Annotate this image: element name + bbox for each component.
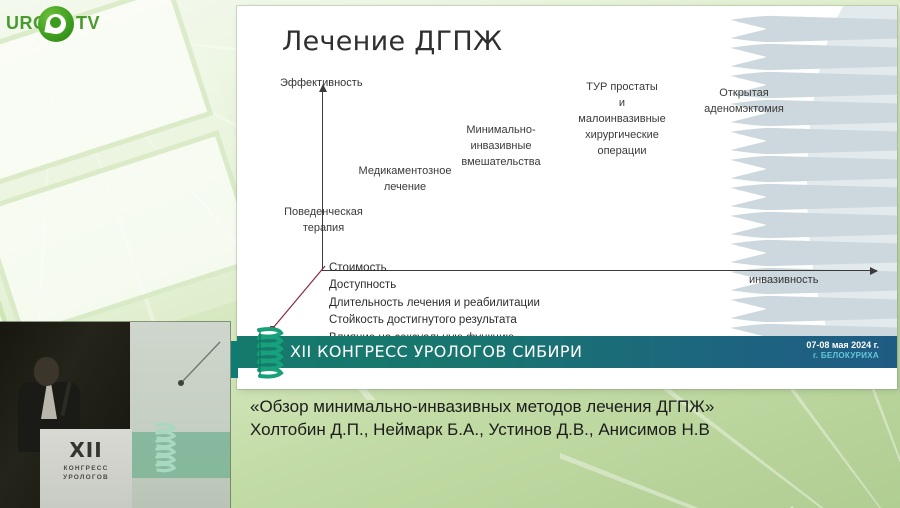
caption-title: «Обзор минимально-инвазивных методов леч… <box>250 396 890 419</box>
congress-banner-date-block: 07-08 мая 2024 г. г. БЕЛОКУРИХА <box>806 340 879 361</box>
urotv-logo: URO TV <box>4 2 108 46</box>
webcam-coil-icon <box>152 420 180 480</box>
criteria-item-0: Стоимость <box>329 260 540 277</box>
chart-step-1-line1: Поведенческая <box>271 205 376 221</box>
criteria-item-1: Доступность <box>329 277 540 294</box>
logo-leaf-inner-icon <box>50 17 61 28</box>
speaker-head <box>34 357 59 386</box>
presentation-slide: Лечение ДГПЖ Эффективность инвазивность … <box>237 6 897 389</box>
congress-banner-title: XII КОНГРЕСС УРОЛОГОВ СИБИРИ <box>290 342 582 361</box>
green-coil-icon <box>251 324 291 380</box>
x-axis-arrow-icon <box>870 267 878 275</box>
treatment-invasiveness-chart: Эффективность инвазивность Поведенческая… <box>237 6 897 351</box>
x-axis-label: инвазивность <box>749 274 818 286</box>
podium-number: XII <box>40 438 132 462</box>
chart-step-4-line1: ТУР простаты <box>557 80 687 96</box>
chart-step-4: ТУР простаты и малоинвазивные хирургичес… <box>557 80 687 160</box>
congress-banner-city: г. БЕЛОКУРИХА <box>806 351 879 361</box>
podium-line1: КОНГРЕСС <box>40 465 132 472</box>
criteria-list: Стоимость Доступность Длительность лечен… <box>329 260 540 347</box>
podium: XII КОНГРЕСС УРОЛОГОВ <box>40 429 132 508</box>
chart-step-2-line2: лечение <box>335 180 475 196</box>
chart-step-5-line1: Открытая <box>689 86 799 102</box>
chart-step-3-line3: вмешательства <box>441 155 561 171</box>
chart-step-4-line5: операции <box>557 144 687 160</box>
logo-text-tv: TV <box>76 13 100 34</box>
chart-step-3: Минимально- инвазивные вмешательства <box>441 123 561 171</box>
talk-caption: «Обзор минимально-инвазивных методов леч… <box>250 396 890 442</box>
chart-step-5: Открытая аденомэктомия <box>689 86 799 118</box>
chart-step-3-line1: Минимально- <box>441 123 561 139</box>
speaker-webcam[interactable]: XII КОНГРЕСС УРОЛОГОВ <box>0 322 230 508</box>
chart-step-1-line2: терапия <box>271 221 376 237</box>
podium-line2: УРОЛОГОВ <box>40 474 132 481</box>
broadcast-stage: URO TV Лечение ДГПЖ Эффективность <box>0 0 900 508</box>
y-axis-label: Эффективность <box>280 77 363 89</box>
caption-authors: Холтобин Д.П., Неймарк Б.А., Устинов Д.В… <box>250 419 890 442</box>
webcam-pointer-icon <box>168 340 224 388</box>
chart-step-1: Поведенческая терапия <box>271 205 376 237</box>
congress-banner: XII КОНГРЕСС УРОЛОГОВ СИБИРИ 07-08 мая 2… <box>237 336 897 368</box>
teal-accent-strip <box>231 341 238 378</box>
chart-step-3-line2: инвазивные <box>441 139 561 155</box>
criteria-item-2: Длительность лечения и реабилитации <box>329 295 540 312</box>
criteria-item-3: Стойкость достигнутого результата <box>329 312 540 329</box>
chart-step-4-line4: хирургические <box>557 128 687 144</box>
y-axis <box>322 91 323 271</box>
chart-step-4-line2: и <box>557 96 687 112</box>
chart-step-4-line3: малоинвазивные <box>557 112 687 128</box>
chart-step-5-line2: аденомэктомия <box>689 102 799 118</box>
congress-banner-date: 07-08 мая 2024 г. <box>806 340 879 351</box>
